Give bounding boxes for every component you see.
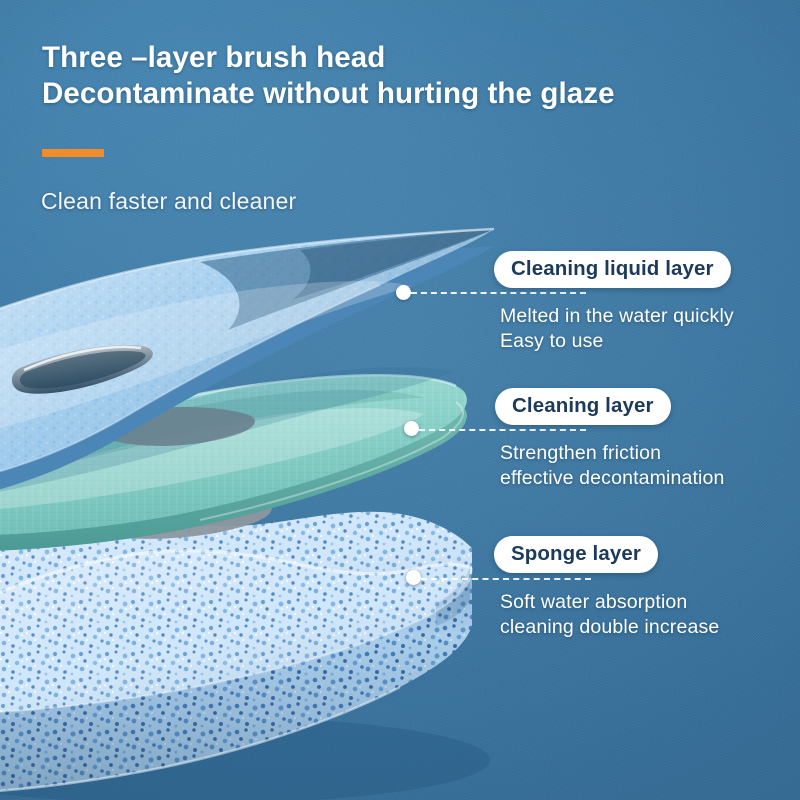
headline-line-1: Three –layer brush head	[42, 41, 385, 74]
callout-badge-3: Sponge layer	[494, 536, 658, 573]
callout-description-3-line-1: Soft water absorption	[500, 590, 719, 615]
callout-leader-line-1	[411, 292, 586, 294]
callout-leader-line-2	[419, 429, 586, 431]
headline-line-2: Decontaminate without hurting the glaze	[42, 76, 615, 112]
callout-description-1-line-2: Easy to use	[500, 329, 734, 354]
callout-description-1: Melted in the water quickly Easy to use	[500, 304, 734, 354]
page-title: Three –layer brush head Decontaminate wi…	[42, 40, 615, 112]
callout-description-2: Strengthen friction effective decontamin…	[500, 441, 725, 491]
callout-badge-2: Cleaning layer	[495, 388, 671, 425]
callout-dot-1	[396, 285, 411, 300]
callout-leader-line-3	[421, 578, 591, 580]
accent-bar	[42, 149, 104, 157]
subtitle: Clean faster and cleaner	[41, 188, 296, 215]
callout-description-2-line-2: effective decontamination	[500, 466, 725, 491]
callout-description-2-line-1: Strengthen friction	[500, 441, 725, 466]
callout-badge-1: Cleaning liquid layer	[494, 251, 731, 288]
callout-dot-3	[406, 570, 421, 585]
callout-description-3: Soft water absorption cleaning double in…	[500, 590, 719, 640]
callout-dot-2	[404, 421, 419, 436]
callout-description-1-line-1: Melted in the water quickly	[500, 304, 734, 329]
callout-description-3-line-2: cleaning double increase	[500, 615, 719, 640]
